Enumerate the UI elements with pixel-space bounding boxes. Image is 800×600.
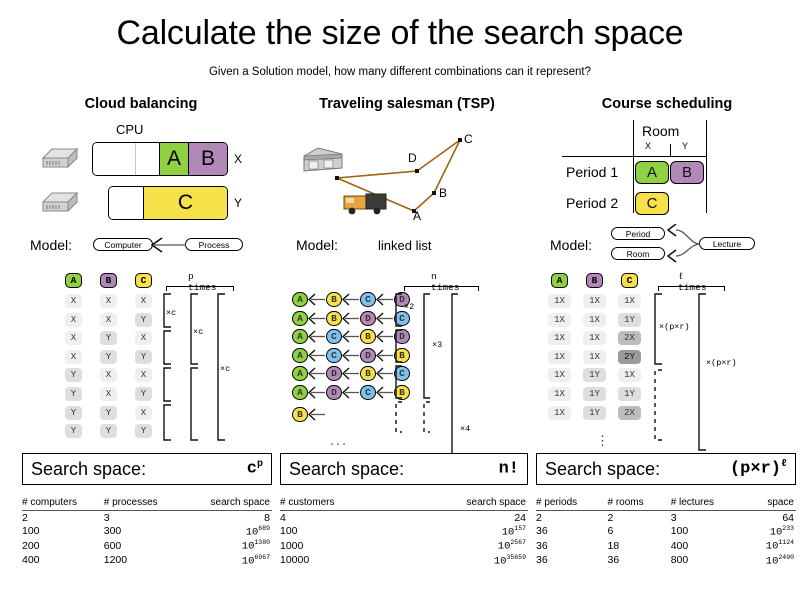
room-col-x: X: [645, 141, 651, 151]
table-header: # lectures: [671, 496, 746, 511]
model-label-tsp: Model:: [296, 237, 338, 253]
model-label-course: Model:: [550, 237, 592, 253]
multiplier-course-1: ×(p×r): [659, 322, 690, 332]
tsp-node: C: [360, 385, 376, 400]
enum-header-b: B: [100, 273, 117, 288]
entity-computer: Computer: [93, 238, 153, 251]
enum-cell: 1X: [548, 387, 571, 401]
table-cell-search-space: 101380: [184, 539, 272, 554]
enum-header-a: A: [551, 273, 568, 288]
enum-cell: X: [100, 368, 117, 382]
tsp-node: B: [292, 407, 308, 422]
relation-arrows-course: [660, 224, 706, 266]
table-cell-search-space: 10157: [399, 524, 528, 539]
search-space-box-course: Search space: (p×r)ℓ: [536, 453, 796, 485]
enum-cell: Y: [100, 331, 117, 345]
table-row: 3618400101124: [536, 539, 796, 554]
enum-times-label-cloud: p times: [188, 271, 217, 293]
enum-cell: 1X: [618, 368, 641, 382]
enum-cell: Y: [65, 406, 82, 420]
table-header: # computers: [22, 496, 104, 511]
table-cell: 100: [671, 524, 746, 539]
table-cell-search-space: 64: [746, 511, 796, 525]
column-course-scheduling: Course scheduling Room X Y Period 1 Peri…: [534, 96, 800, 596]
enum-cell: X: [100, 313, 117, 327]
table-row: 36610010233: [536, 524, 796, 539]
column-title-cloud: Cloud balancing: [8, 96, 274, 112]
table-cell: 2: [22, 511, 104, 525]
entity-period: Period: [611, 227, 665, 240]
room-header-label: Room: [642, 123, 679, 139]
computer-bar-y: C: [108, 186, 228, 220]
table-cell: 10000: [280, 553, 399, 568]
tsp-link-arrow: [376, 366, 394, 381]
tsp-node: A: [292, 366, 308, 381]
table-header: search space: [399, 496, 528, 511]
enum-header-a: A: [65, 273, 82, 288]
table-cell-search-space: 24: [399, 511, 528, 525]
bracket-tick-left: [166, 286, 167, 291]
table-cell: 36: [536, 553, 608, 568]
tsp-link-arrow: [342, 385, 360, 400]
table-cell-search-space: 102490: [746, 553, 796, 568]
search-space-box-tsp: Search space: n!: [280, 453, 528, 485]
enum-cell: 1X: [548, 350, 571, 364]
enum-cell: 1X: [583, 313, 606, 327]
multiplier-tsp-3: ×4: [460, 424, 470, 434]
lecture-chip-b: B: [670, 161, 704, 184]
page-subtitle: Given a Solution model, how many differe…: [0, 66, 800, 78]
table-cell: 600: [104, 539, 184, 554]
enum-cell: 1X: [548, 406, 571, 420]
table-cell: 1200: [104, 553, 184, 568]
tsp-link-arrow: [376, 292, 394, 307]
multiplier-course-2: ×(p×r): [706, 358, 737, 368]
table-cell-search-space: 101124: [746, 539, 796, 554]
data-table-cloud: # computers# processessearch space 23810…: [22, 496, 272, 568]
enum-cell: X: [135, 331, 152, 345]
model-label-cloud: Model:: [30, 237, 72, 253]
enum-cell: X: [135, 294, 152, 308]
enum-cell: 1X: [548, 294, 571, 308]
tsp-node: B: [360, 366, 376, 381]
enum-cell: X: [100, 294, 117, 308]
enum-cell: 2Y: [618, 350, 641, 364]
course-vertical-ellipsis: ⋮: [596, 433, 609, 449]
tsp-node: A: [292, 348, 308, 363]
enum-cell: X: [65, 294, 82, 308]
table-cell: 1000: [280, 539, 399, 554]
entity-lecture: Lecture: [699, 237, 755, 250]
enum-cell: 1Y: [618, 387, 641, 401]
table-cell: 400: [671, 539, 746, 554]
computer-bar-x: A B: [92, 142, 228, 176]
table-row: 100001035659: [280, 553, 528, 568]
table-cell-search-space: 10689: [184, 524, 272, 539]
enum-cell: X: [135, 406, 152, 420]
tsp-link-arrow: [376, 329, 394, 344]
tsp-link-arrow: [308, 407, 326, 422]
tsp-link-arrow: [342, 348, 360, 363]
tsp-node: D: [326, 385, 342, 400]
search-space-formula-tsp: n!: [499, 459, 519, 479]
process-chip-a: A: [159, 143, 189, 175]
tsp-link-arrow: [342, 292, 360, 307]
tsp-node: C: [326, 329, 342, 344]
table-cell: 2: [608, 511, 671, 525]
tsp-node: B: [326, 311, 342, 326]
bracket-tick-left: [404, 286, 405, 291]
table-cell: 300: [104, 524, 184, 539]
search-space-label-tsp: Search space:: [289, 459, 404, 480]
table-cell: 400: [22, 553, 104, 568]
table-cell-search-space: 106967: [184, 553, 272, 568]
bracket-top-course: [658, 286, 725, 287]
tsp-node: D: [360, 348, 376, 363]
enum-cell: Y: [135, 424, 152, 438]
enum-cell: 1Y: [583, 368, 606, 382]
enum-cell: 1X: [583, 331, 606, 345]
tsp-link-arrow: [308, 385, 326, 400]
tsp-point-a: A: [413, 209, 421, 223]
enum-cell: Y: [65, 424, 82, 438]
lecture-chip-a: A: [635, 161, 669, 184]
table-cell: 18: [608, 539, 671, 554]
multiplier-tsp-1: ×2: [404, 302, 414, 312]
tsp-link-arrow: [308, 329, 326, 344]
enum-cell: 1Y: [583, 387, 606, 401]
enum-cell: Y: [100, 406, 117, 420]
enum-cell: X: [100, 387, 117, 401]
tsp-row-ellipsis: ...: [329, 438, 347, 449]
tsp-point-c: C: [464, 132, 473, 146]
enum-header-c: C: [135, 273, 152, 288]
grid-hline: [562, 156, 706, 157]
enum-times-label-tsp: n times: [431, 271, 460, 293]
computer-label-x: X: [234, 152, 242, 166]
bracket-tick-left: [658, 286, 659, 291]
table-row: 10030010689: [22, 524, 272, 539]
enum-cell: 1X: [583, 294, 606, 308]
table-row: 3636800102490: [536, 553, 796, 568]
table-cell: 800: [671, 553, 746, 568]
bracket-tick-right: [233, 286, 234, 291]
column-title-tsp: Traveling salesman (TSP): [274, 96, 540, 112]
enum-cell: Y: [100, 350, 117, 364]
enum-cell: 1X: [583, 350, 606, 364]
enum-cell: Y: [65, 387, 82, 401]
computer-label-y: Y: [234, 196, 242, 210]
tsp-node: B: [360, 329, 376, 344]
enum-cell: 1X: [548, 313, 571, 327]
search-space-label-course: Search space:: [545, 459, 660, 480]
process-chip-c: C: [143, 187, 227, 219]
entity-process: Process: [185, 238, 243, 251]
tsp-link-arrow: [376, 348, 394, 363]
column-tsp: Traveling salesman (TSP) C D B A Mod: [274, 96, 540, 596]
tsp-node: D: [326, 366, 342, 381]
multiplier-2: ×c: [193, 327, 203, 337]
table-cell: 6: [608, 524, 671, 539]
table-row: 238: [22, 511, 272, 525]
table-row: 22364: [536, 511, 796, 525]
table-header: # processes: [104, 496, 184, 511]
bracket-tick-right: [478, 286, 479, 291]
search-space-formula-course: (p×r)ℓ: [730, 459, 787, 479]
search-space-box-cloud: Search space: cp: [22, 453, 272, 485]
room-col-y: Y: [682, 141, 688, 151]
tsp-link-arrow: [342, 311, 360, 326]
enum-cell: 1X: [618, 294, 641, 308]
enum-cell: X: [65, 350, 82, 364]
tsp-link-arrow: [376, 385, 394, 400]
enum-cell: Y: [135, 387, 152, 401]
table-cell: 36: [536, 524, 608, 539]
table-cell-search-space: 102567: [399, 539, 528, 554]
table-header: # customers: [280, 496, 399, 511]
model-value-tsp: linked list: [378, 238, 431, 253]
enum-cell: Y: [65, 368, 82, 382]
data-table-tsp: # customerssearch space 4241001015710001…: [280, 496, 528, 568]
enum-header-c: C: [621, 273, 638, 288]
table-row: 200600101380: [22, 539, 272, 554]
table-cell: 3: [104, 511, 184, 525]
enum-cell: 1X: [548, 331, 571, 345]
table-cell: 36: [608, 553, 671, 568]
enum-cell: X: [65, 331, 82, 345]
table-header: space: [746, 496, 796, 511]
enum-cell: 2X: [618, 406, 641, 420]
table-row: 10010157: [280, 524, 528, 539]
entity-room: Room: [611, 247, 665, 260]
period-label-1: Period 1: [566, 164, 618, 180]
page-title: Calculate the size of the search space: [0, 14, 800, 53]
enum-cell: 1X: [548, 368, 571, 382]
warehouse-icon: [300, 144, 346, 178]
server-icon: [40, 188, 80, 216]
enum-times-label-course: ℓ times: [678, 271, 707, 293]
data-table-course: # periods# rooms# lecturesspace 22364366…: [536, 496, 796, 568]
bracket-tick-right: [724, 286, 725, 291]
tsp-node: A: [292, 311, 308, 326]
truck-icon: [341, 190, 391, 218]
table-header: # periods: [536, 496, 608, 511]
multiplier-tsp-2: ×3: [432, 340, 442, 350]
tsp-link-arrow: [308, 366, 326, 381]
enum-header-b: B: [586, 273, 603, 288]
search-space-label-cloud: Search space:: [31, 459, 146, 480]
tsp-link-arrow: [308, 348, 326, 363]
tsp-node: A: [292, 292, 308, 307]
enum-cell: X: [135, 368, 152, 382]
enum-cell: Y: [135, 350, 152, 364]
search-space-formula-cloud: cp: [247, 459, 263, 479]
table-cell: 100: [280, 524, 399, 539]
tsp-bracket-group: [394, 292, 504, 472]
table-cell-search-space: 1035659: [399, 553, 528, 568]
table-row: 4001200106967: [22, 553, 272, 568]
enum-cell: X: [65, 313, 82, 327]
enum-cell: Y: [100, 424, 117, 438]
course-bracket-group: [648, 292, 758, 457]
tsp-link-arrow: [308, 311, 326, 326]
table-cell: 3: [671, 511, 746, 525]
tsp-link-arrow: [342, 366, 360, 381]
table-header: # rooms: [608, 496, 671, 511]
table-cell-search-space: 10233: [746, 524, 796, 539]
grid-vline-right: [706, 120, 707, 213]
table-cell-search-space: 8: [184, 511, 272, 525]
table-cell: 4: [280, 511, 399, 525]
cpu-label: CPU: [116, 122, 143, 137]
column-cloud-balancing: Cloud balancing CPU: [8, 96, 274, 596]
lecture-chip-c: C: [635, 192, 669, 215]
tsp-node: C: [360, 292, 376, 307]
server-icon: [40, 144, 80, 172]
bracket-top-tsp: [404, 286, 479, 287]
multiplier-3: ×c: [220, 364, 230, 374]
tsp-node: D: [360, 311, 376, 326]
tsp-link-arrow: [376, 311, 394, 326]
relation-arrow-cloud: [148, 236, 190, 254]
tsp-point-b: B: [439, 186, 447, 200]
table-row: 1000102567: [280, 539, 528, 554]
bracket-top-cloud: [166, 286, 234, 287]
table-cell: 36: [536, 539, 608, 554]
enum-cell: 1Y: [583, 406, 606, 420]
enum-cell: 1Y: [618, 313, 641, 327]
column-title-course: Course scheduling: [534, 96, 800, 112]
table-header: search space: [184, 496, 272, 511]
tsp-node: A: [292, 329, 308, 344]
table-row: 424: [280, 511, 528, 525]
tsp-node: B: [326, 292, 342, 307]
tsp-link-arrow: [342, 329, 360, 344]
enum-cell: Y: [135, 313, 152, 327]
tsp-node: C: [326, 348, 342, 363]
table-cell: 2: [536, 511, 608, 525]
enum-cell: 2X: [618, 331, 641, 345]
period-label-2: Period 2: [566, 195, 618, 211]
multiplier-1: ×c: [166, 308, 176, 318]
tsp-point-d: D: [408, 151, 417, 165]
process-chip-b: B: [189, 143, 227, 175]
tsp-link-arrow: [308, 292, 326, 307]
table-cell: 200: [22, 539, 104, 554]
table-cell: 100: [22, 524, 104, 539]
tsp-node: A: [292, 385, 308, 400]
